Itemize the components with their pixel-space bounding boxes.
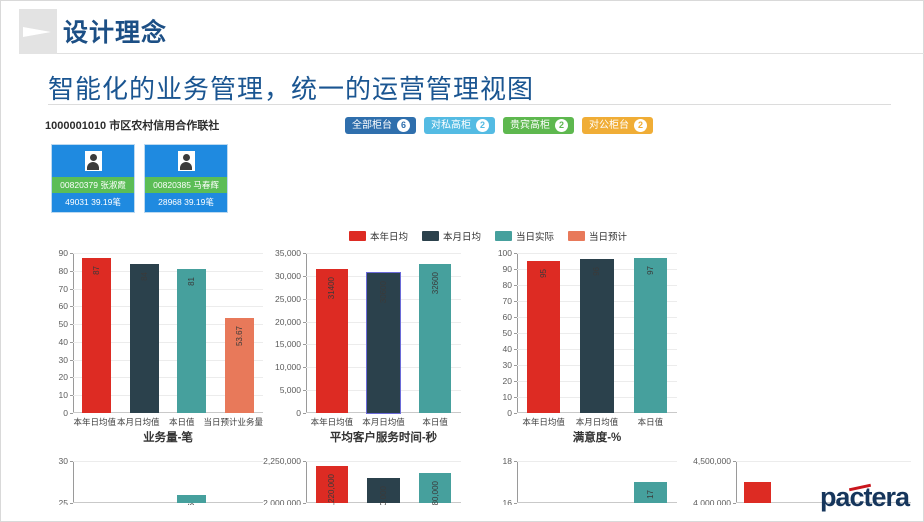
x-axis-label: 本日值 (160, 416, 204, 428)
bar[interactable]: 95 (527, 261, 560, 413)
bar-value-label: 87 (92, 266, 101, 275)
bar-value-label: 2,180,000 (431, 481, 440, 505)
chart-bottom-left-partial: 253026 (73, 461, 263, 503)
bar-slot: 97 (624, 253, 677, 413)
bar-value-label: 96 (592, 267, 601, 276)
legend-swatch (422, 231, 439, 241)
bar[interactable]: 96 (580, 259, 613, 413)
plot-area: 05,00010,00015,00020,00025,00030,00035,0… (306, 253, 461, 413)
bar[interactable]: 2,220,000 (316, 466, 348, 503)
badge-personal-counter[interactable]: 对私高柜 2 (424, 117, 495, 134)
arrow-right-icon (23, 27, 51, 37)
chart-legend: 本年日均 本月日均 当日实际 当日预计 (349, 229, 627, 243)
bar[interactable]: 17 (634, 482, 667, 503)
y-axis-tick: 40 (503, 344, 517, 354)
badge-vip-counter[interactable]: 贵宾高柜 2 (503, 117, 574, 134)
legend-swatch (568, 231, 585, 241)
bar-value-label: 2,220,000 (327, 474, 336, 505)
bar[interactable]: 84 (130, 264, 159, 413)
bar-value-label: 53.67 (235, 326, 244, 346)
x-axis-label: 本年日均值 (306, 416, 358, 428)
badge-count: 6 (397, 119, 410, 132)
plot-area: 010203040506070809087848153.67 (73, 253, 263, 413)
subtitle-divider (48, 104, 891, 105)
badge-count: 2 (634, 119, 647, 132)
bar[interactable] (744, 482, 771, 503)
teller-card-list: 00820379 张淑霞 49031 39.19笔 00820385 马春辉 2… (51, 144, 228, 213)
badge-label: 贵宾高柜 (510, 119, 550, 132)
legend-label: 当日预计 (589, 229, 627, 243)
legend-label: 本月日均 (443, 229, 481, 243)
y-axis-tick: 70 (59, 284, 73, 294)
y-axis-tick: 70 (503, 296, 517, 306)
teller-stat: 49031 39.19笔 (52, 193, 134, 212)
bar[interactable]: 26 (177, 495, 206, 503)
y-axis-tick: 4,500,000 (693, 456, 736, 466)
chart-satisfaction: 0102030405060708090100959697 本年日均值本月日均值本… (517, 253, 677, 413)
chart-business-volume: 010203040506070809087848153.67 本年日均值本月日均… (73, 253, 263, 413)
y-axis-tick: 16 (503, 498, 517, 505)
bar[interactable]: 30600 (367, 273, 399, 413)
bar-slot: 30600 (358, 253, 410, 413)
bar-group: 17 (517, 461, 677, 503)
bar-value-label: 2,150,000 (379, 486, 388, 505)
y-axis-tick: 20 (59, 372, 73, 382)
x-axis-label: 本年日均值 (73, 416, 117, 428)
y-axis-tick: 0 (296, 408, 306, 418)
teller-name: 00820385 马春辉 (145, 177, 227, 193)
plot-area: 2,000,0002,250,0002,220,0002,150,0002,18… (306, 461, 461, 503)
y-axis-tick: 18 (503, 456, 517, 466)
plot-area: 0102030405060708090100959697 (517, 253, 677, 413)
y-axis-tick: 10 (59, 390, 73, 400)
plot-area: 161817 (517, 461, 677, 503)
bar-slot: 17 (624, 461, 677, 503)
bar-value-label: 32600 (431, 272, 440, 294)
bar[interactable]: 97 (634, 258, 667, 413)
y-axis-tick: 25,000 (275, 294, 306, 304)
bar-value-label: 26 (187, 503, 196, 505)
bar-slot: 2,220,000 (306, 461, 358, 503)
bar-slot (121, 461, 169, 503)
y-axis-tick: 20 (503, 376, 517, 386)
teller-card[interactable]: 00820385 马春辉 28968 39.19笔 (144, 144, 228, 213)
badge-label: 全部柜台 (352, 119, 392, 132)
bar-value-label: 97 (646, 266, 655, 275)
bar-slot: 26 (168, 461, 216, 503)
bar-slot (517, 461, 570, 503)
plot-area: 253026 (73, 461, 263, 503)
organization-label: 1000001010 市区农村信用合作联社 (45, 117, 219, 133)
bar-slot (73, 461, 121, 503)
x-axis-label: 本年日均值 (517, 416, 570, 428)
chart-bottom-middle-partial: 2,000,0002,250,0002,220,0002,150,0002,18… (306, 461, 461, 503)
badge-count: 2 (476, 119, 489, 132)
legend-item-today-forecast: 当日预计 (568, 229, 627, 243)
slide-header: 设计理念 (1, 9, 924, 54)
y-axis-tick: 4,000,000 (693, 498, 736, 505)
teller-stat: 28968 39.19笔 (145, 193, 227, 212)
legend-item-today-actual: 当日实际 (495, 229, 554, 243)
pactera-logo: pactera (820, 482, 909, 513)
bar[interactable]: 2,150,000 (367, 478, 399, 503)
y-axis-tick: 10 (503, 392, 517, 402)
y-axis-tick: 0 (507, 408, 517, 418)
bar-slot (736, 461, 780, 503)
y-axis-tick: 35,000 (275, 248, 306, 258)
x-axis-labels: 本年日均值本月日均值本日值当日预计业务量 (73, 416, 263, 428)
bar-value-label: 17 (646, 490, 655, 499)
bar-slot: 95 (517, 253, 570, 413)
teller-name: 00820379 张淑霞 (52, 177, 134, 193)
header-divider (57, 53, 924, 54)
page-title: 设计理念 (63, 13, 167, 49)
y-axis-tick: 0 (63, 408, 73, 418)
bar[interactable]: 81 (177, 269, 206, 413)
bar[interactable]: 87 (82, 258, 111, 413)
bar-group: 2,220,0002,150,0002,180,000 (306, 461, 461, 503)
badge-all-counters[interactable]: 全部柜台 6 (345, 117, 416, 134)
y-axis-tick: 90 (503, 264, 517, 274)
y-axis-tick: 50 (59, 319, 73, 329)
bar-group: 26 (73, 461, 263, 503)
y-axis-tick: 15,000 (275, 339, 306, 349)
y-axis-tick: 100 (498, 248, 517, 258)
legend-item-month-avg: 本月日均 (422, 229, 481, 243)
y-axis-tick: 80 (503, 280, 517, 290)
chart-avg-service-time: 05,00010,00015,00020,00025,00030,00035,0… (306, 253, 461, 413)
x-axis-label: 当日预计业务量 (204, 416, 264, 428)
x-axis-labels: 本年日均值本月日均值本日值 (517, 416, 677, 428)
y-axis-tick: 60 (503, 312, 517, 322)
x-axis-labels: 本年日均值本月日均值本日值 (306, 416, 461, 428)
y-axis-tick: 25 (59, 498, 73, 505)
bar-slot: 53.67 (216, 253, 264, 413)
legend-label: 本年日均 (370, 229, 408, 243)
bar-slot: 2,180,000 (409, 461, 461, 503)
bar-slot: 2,150,000 (358, 461, 410, 503)
x-axis-label: 本月日均值 (117, 416, 161, 428)
bar[interactable]: 32600 (419, 264, 451, 413)
x-axis-label: 本日值 (409, 416, 461, 428)
y-axis-tick: 2,000,000 (263, 498, 306, 505)
bar-slot: 31400 (306, 253, 358, 413)
y-axis-tick: 30 (503, 360, 517, 370)
y-axis-tick: 20,000 (275, 317, 306, 327)
teller-photo (52, 145, 134, 177)
bar-value-label: 84 (140, 272, 149, 281)
bar-group: 959697 (517, 253, 677, 413)
bar-slot: 96 (570, 253, 623, 413)
x-axis-label: 本日值 (624, 416, 677, 428)
y-axis-tick: 30,000 (275, 271, 306, 281)
x-axis-label: 本月日均值 (570, 416, 623, 428)
bar-group: 314003060032600 (306, 253, 461, 413)
bar-slot (570, 461, 623, 503)
bar-value-label: 81 (187, 277, 196, 286)
bar-value-label: 31400 (327, 277, 336, 299)
legend-label: 当日实际 (516, 229, 554, 243)
chart-title-satisfaction: 满意度-% (517, 429, 677, 445)
teller-photo (145, 145, 227, 177)
bar-slot (780, 461, 824, 503)
bar[interactable]: 31400 (316, 269, 348, 413)
bar-slot: 81 (168, 253, 216, 413)
bar[interactable]: 2,180,000 (419, 473, 451, 503)
user-avatar-icon (85, 151, 102, 171)
bar-slot: 32600 (409, 253, 461, 413)
bar-value-label: 30600 (379, 281, 388, 303)
chart-bottom-right-partial: 161817 (517, 461, 677, 503)
bar-slot: 84 (121, 253, 169, 413)
page-subtitle: 智能化的业务管理，统一的运营管理视图 (48, 69, 534, 106)
teller-card[interactable]: 00820379 张淑霞 49031 39.19笔 (51, 144, 135, 213)
chart-title-business-volume: 业务量-笔 (73, 429, 263, 445)
x-axis-label: 本月日均值 (358, 416, 410, 428)
y-axis-tick: 30 (59, 355, 73, 365)
slide-root: 设计理念 智能化的业务管理，统一的运营管理视图 1000001010 市区农村信… (0, 0, 924, 522)
bar-group: 87848153.67 (73, 253, 263, 413)
bar-slot (216, 461, 264, 503)
y-axis-tick: 10,000 (275, 362, 306, 372)
badge-count: 2 (555, 119, 568, 132)
user-avatar-icon (178, 151, 195, 171)
y-axis-tick: 50 (503, 328, 517, 338)
y-axis-tick: 80 (59, 266, 73, 276)
badge-label: 对私高柜 (431, 119, 471, 132)
legend-swatch (495, 231, 512, 241)
bar-slot: 87 (73, 253, 121, 413)
legend-swatch (349, 231, 366, 241)
y-axis-tick: 40 (59, 337, 73, 347)
chart-title-avg-service-time: 平均客户服务时间-秒 (291, 429, 476, 445)
bar-value-label: 95 (539, 269, 548, 278)
y-axis-tick: 60 (59, 301, 73, 311)
y-axis-tick: 2,250,000 (263, 456, 306, 466)
bar[interactable]: 53.67 (225, 318, 254, 413)
y-axis-tick: 90 (59, 248, 73, 258)
counter-type-badges: 全部柜台 6 对私高柜 2 贵宾高柜 2 对公柜台 2 (345, 117, 653, 134)
y-axis-tick: 5,000 (280, 385, 306, 395)
badge-label: 对公柜台 (589, 119, 629, 132)
bottom-partial-charts-row: 253026 2,000,0002,250,0002,220,0002,150,… (1, 453, 924, 505)
legend-item-year-avg: 本年日均 (349, 229, 408, 243)
badge-corporate-counter[interactable]: 对公柜台 2 (582, 117, 653, 134)
y-axis-tick: 30 (59, 456, 73, 466)
